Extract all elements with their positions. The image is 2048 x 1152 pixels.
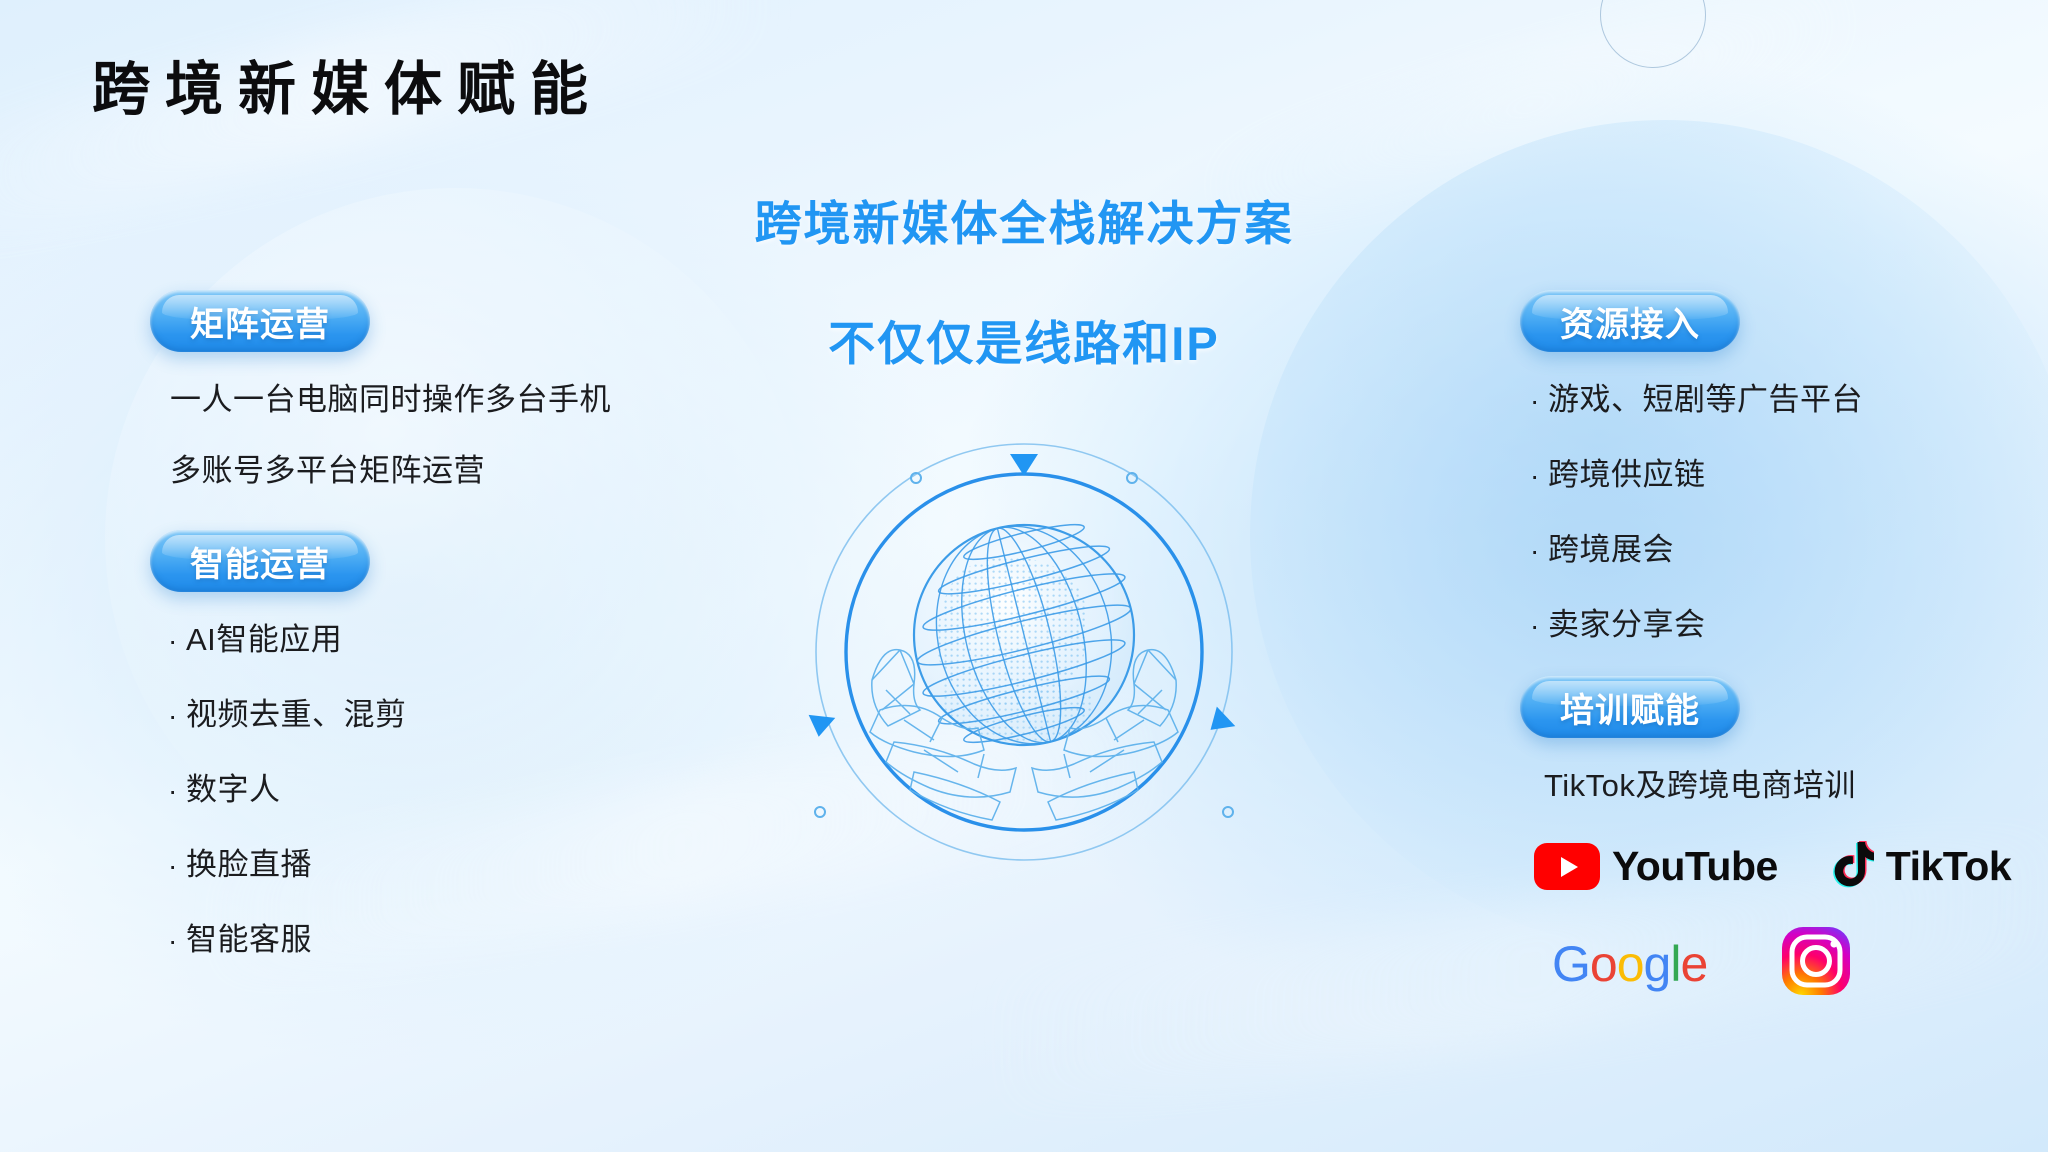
list-item-label: 游戏、短剧等广告平台 bbox=[1548, 374, 1863, 419]
headline-primary: 跨境新媒体全栈解决方案 bbox=[755, 185, 1294, 254]
list-item-label: 智能客服 bbox=[186, 914, 312, 959]
instagram-icon bbox=[1779, 924, 1853, 1003]
list-item: · 数字人 bbox=[168, 764, 710, 809]
google-letter-e: e bbox=[1680, 936, 1707, 992]
badge-matrix-operations[interactable]: 矩阵运营 bbox=[150, 290, 370, 352]
list-item-label: 数字人 bbox=[186, 764, 281, 809]
badge-wrap: 智能运营 bbox=[150, 530, 710, 592]
list-item-label: 跨境展会 bbox=[1548, 524, 1674, 569]
list-item: · 游戏、短剧等广告平台 bbox=[1530, 374, 2048, 419]
group-matrix-operations: 矩阵运营 一人一台电脑同时操作多台手机 多账号多平台矩阵运营 bbox=[150, 290, 710, 490]
logo-row: YouTube TikTok bbox=[1534, 839, 2048, 894]
bullet-dot-icon: · bbox=[168, 625, 186, 657]
text-line: TikTok及跨境电商培训 bbox=[1544, 760, 2048, 805]
bullet-dot-icon: · bbox=[168, 775, 186, 807]
list-item-label: 换脸直播 bbox=[186, 839, 312, 884]
logo-label: YouTube bbox=[1612, 843, 1778, 890]
badge-wrap: 培训赋能 bbox=[1520, 676, 2048, 738]
badge-smart-operations[interactable]: 智能运营 bbox=[150, 530, 370, 592]
platform-logos: YouTube TikTok Google bbox=[1534, 839, 2048, 1003]
text-line: 一人一台电脑同时操作多台手机 bbox=[170, 374, 710, 419]
logo-row: Google bbox=[1552, 924, 2048, 1003]
list-item: · AI智能应用 bbox=[168, 614, 710, 659]
right-column: 资源接入 · 游戏、短剧等广告平台 · 跨境供应链 · 跨境展会 · 卖家分享会 bbox=[1520, 290, 2048, 1033]
bullet-dot-icon: · bbox=[168, 700, 186, 732]
youtube-icon bbox=[1534, 843, 1600, 890]
bullet-dot-icon: · bbox=[1530, 610, 1548, 642]
group-training-empowerment: 培训赋能 TikTok及跨境电商培训 bbox=[1520, 676, 2048, 805]
list-item-label: 跨境供应链 bbox=[1548, 449, 1706, 494]
list-item: · 换脸直播 bbox=[168, 839, 710, 884]
globe-in-hands-illustration bbox=[794, 420, 1254, 880]
badge-wrap: 矩阵运营 bbox=[150, 290, 710, 352]
bullet-dot-icon: · bbox=[168, 850, 186, 882]
badge-resource-access[interactable]: 资源接入 bbox=[1520, 290, 1740, 352]
logo-youtube[interactable]: YouTube bbox=[1534, 843, 1778, 890]
logo-label: TikTok bbox=[1886, 843, 2011, 890]
badge-training-empowerment[interactable]: 培训赋能 bbox=[1520, 676, 1740, 738]
bullet-list-smart-operations: · AI智能应用 · 视频去重、混剪 · 数字人 · 换脸直播 · 智能客服 bbox=[150, 614, 710, 959]
logo-google[interactable]: Google bbox=[1552, 935, 1707, 993]
bullet-dot-icon: · bbox=[168, 925, 186, 957]
group-resource-access: 资源接入 · 游戏、短剧等广告平台 · 跨境供应链 · 跨境展会 · 卖家分享会 bbox=[1520, 290, 2048, 644]
list-item: · 跨境展会 bbox=[1530, 524, 2048, 569]
logo-tiktok[interactable]: TikTok bbox=[1830, 839, 2011, 894]
left-column: 矩阵运营 一人一台电脑同时操作多台手机 多账号多平台矩阵运营 智能运营 · AI… bbox=[150, 290, 710, 989]
google-letter-o2: o bbox=[1617, 936, 1644, 992]
badge-wrap: 资源接入 bbox=[1520, 290, 2048, 352]
text-line: 多账号多平台矩阵运营 bbox=[170, 445, 710, 490]
list-item: · 跨境供应链 bbox=[1530, 449, 2048, 494]
list-item-label: 视频去重、混剪 bbox=[186, 689, 407, 734]
google-letter-l: l bbox=[1670, 936, 1680, 992]
list-item: · 卖家分享会 bbox=[1530, 599, 2048, 644]
slide-root: 跨境新媒体赋能 跨境新媒体全栈解决方案 不仅仅是线路和IP bbox=[0, 0, 2048, 1152]
bullet-dot-icon: · bbox=[1530, 535, 1548, 567]
page-title: 跨境新媒体赋能 bbox=[92, 42, 603, 126]
list-item-label: AI智能应用 bbox=[186, 614, 342, 659]
headline-secondary: 不仅仅是线路和IP bbox=[828, 305, 1219, 374]
light-streak bbox=[0, 0, 780, 257]
google-letter-g1: G bbox=[1552, 936, 1590, 992]
bullet-list-resource-access: · 游戏、短剧等广告平台 · 跨境供应链 · 跨境展会 · 卖家分享会 bbox=[1520, 374, 2048, 644]
list-item: · 视频去重、混剪 bbox=[168, 689, 710, 734]
tiktok-icon bbox=[1830, 839, 1874, 894]
bullet-dot-icon: · bbox=[1530, 385, 1548, 417]
decorative-circle-icon bbox=[1600, 0, 1706, 68]
list-item: · 智能客服 bbox=[168, 914, 710, 959]
group-smart-operations: 智能运营 · AI智能应用 · 视频去重、混剪 · 数字人 · 换脸直播 bbox=[150, 530, 710, 959]
google-letter-g2: g bbox=[1644, 936, 1671, 992]
logo-instagram[interactable] bbox=[1779, 924, 1853, 1003]
google-wordmark: Google bbox=[1552, 935, 1707, 993]
list-item-label: 卖家分享会 bbox=[1548, 599, 1706, 644]
bullet-dot-icon: · bbox=[1530, 460, 1548, 492]
google-letter-o1: o bbox=[1590, 936, 1617, 992]
